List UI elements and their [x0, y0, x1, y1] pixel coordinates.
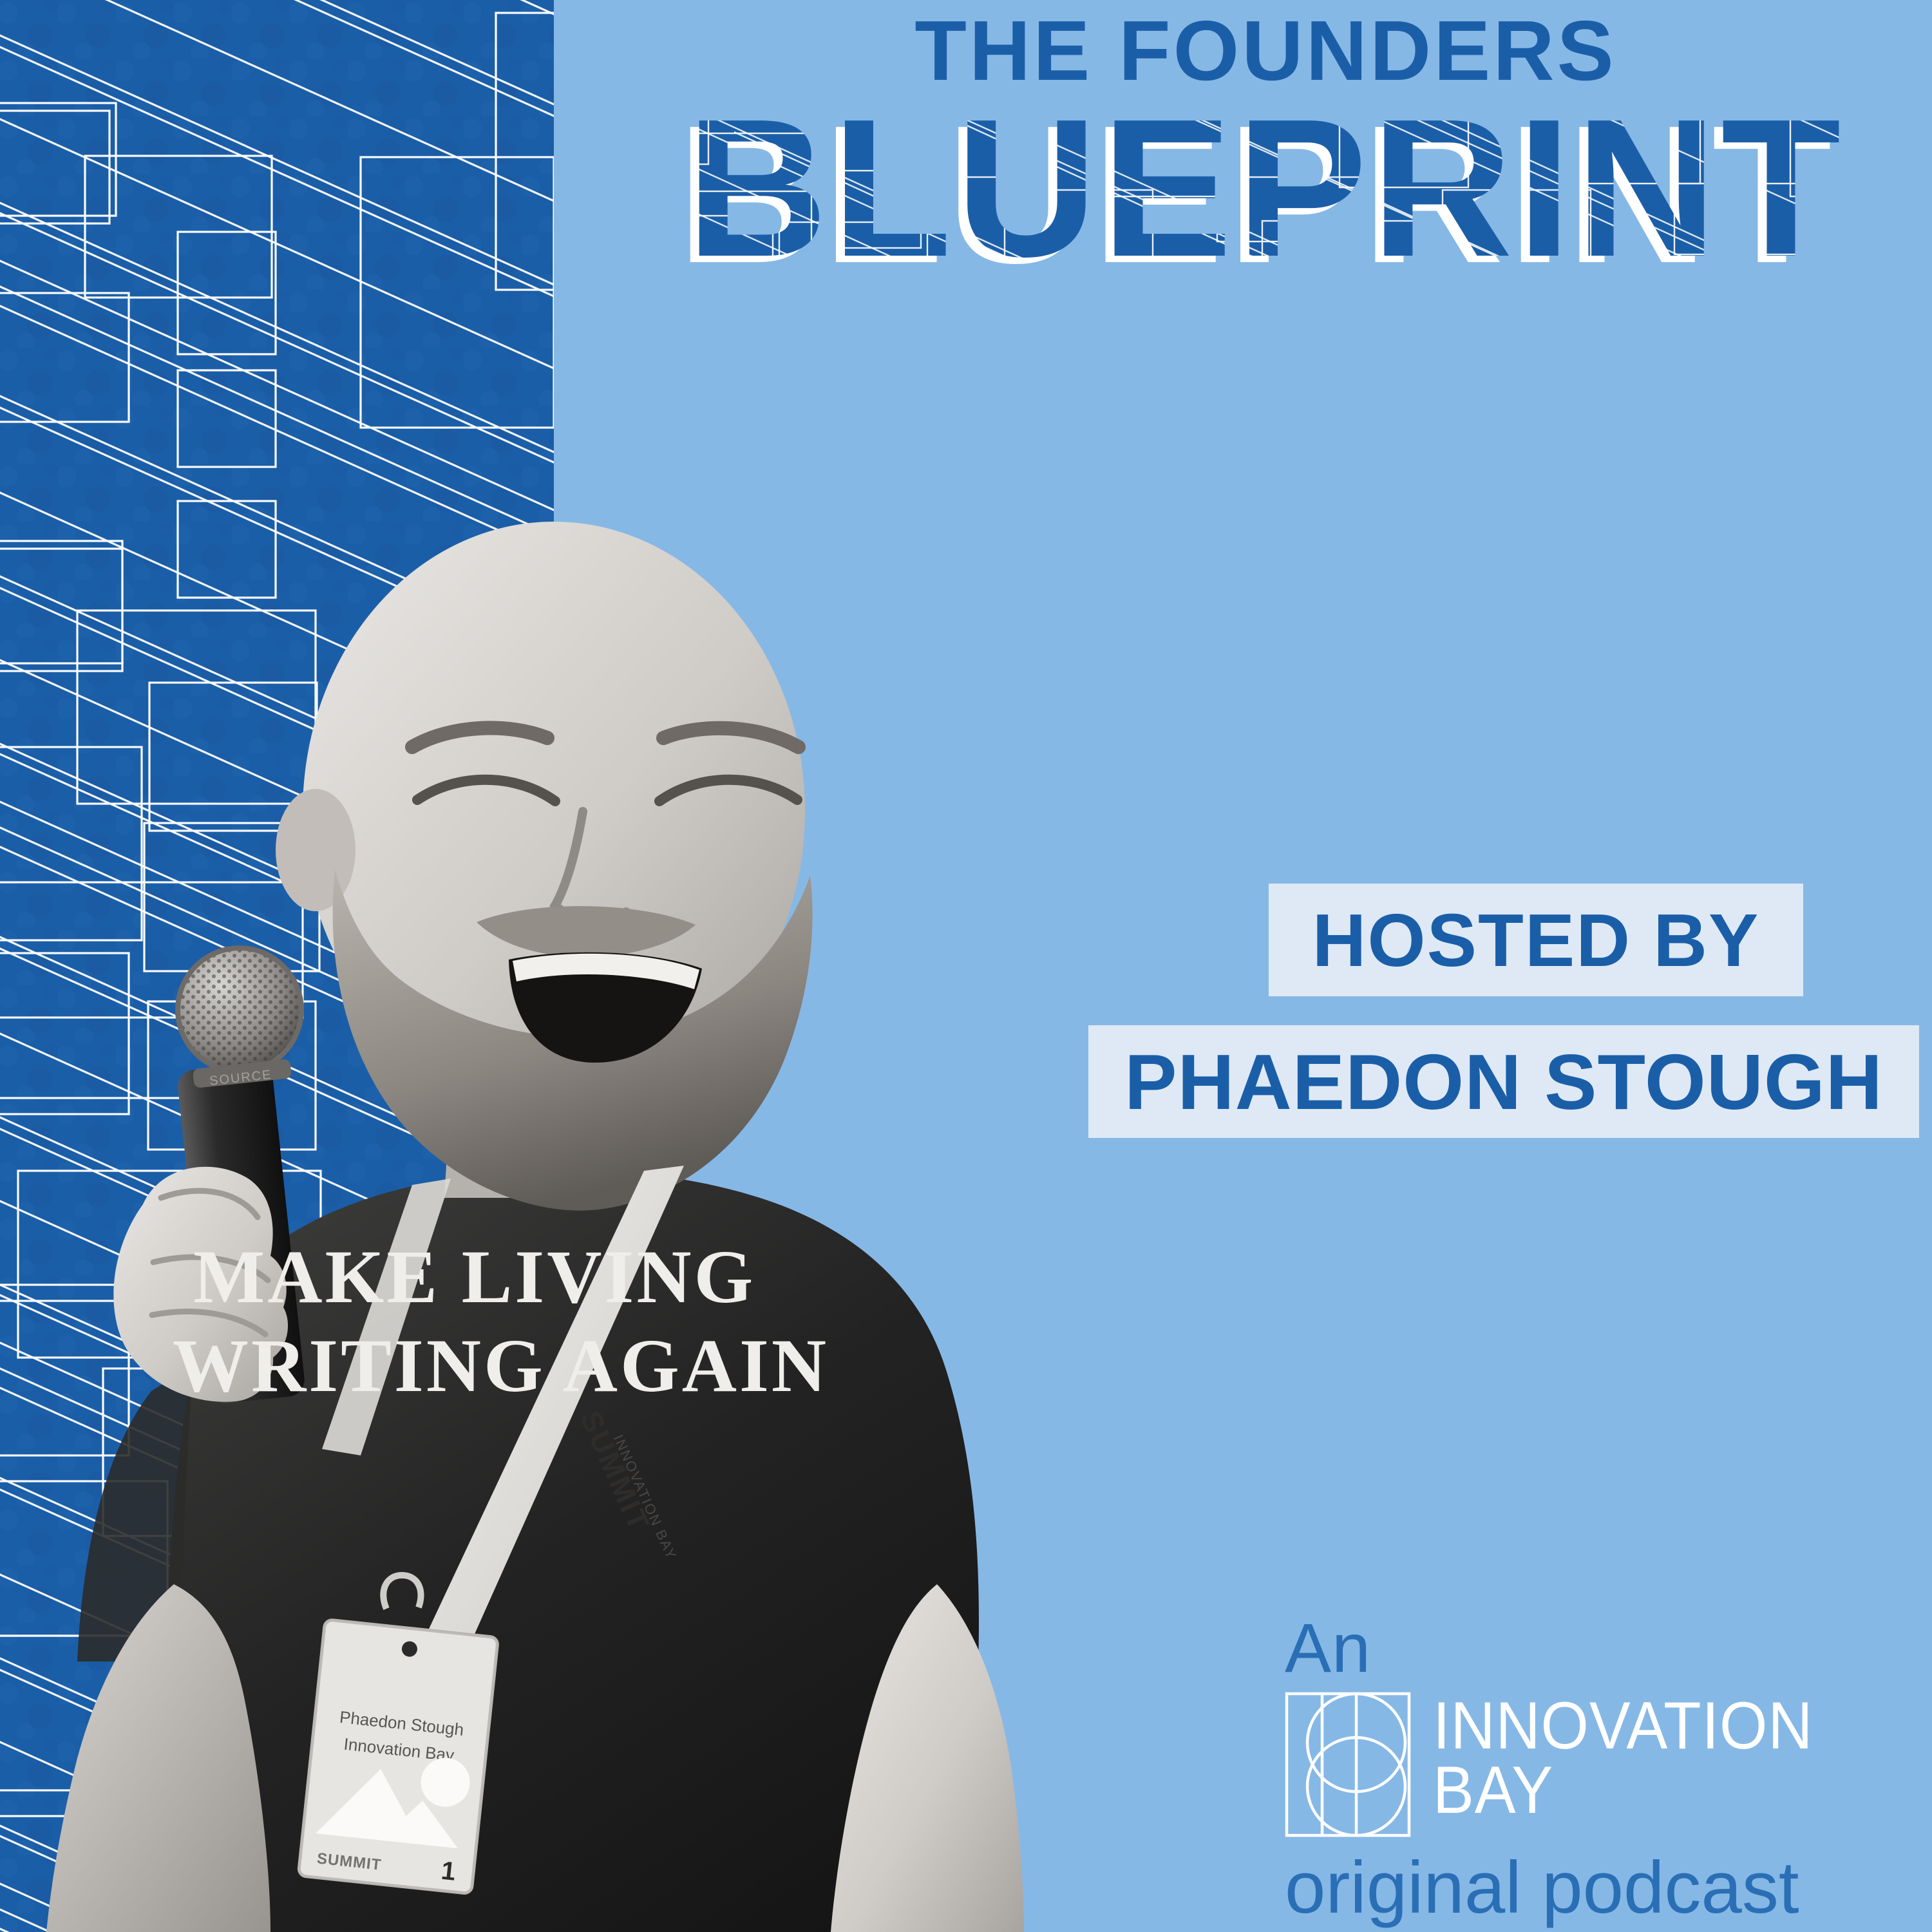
tshirt-slogan-line-2: WRITING AGAIN: [173, 1323, 829, 1408]
innovation-bay-wordmark: INNOVATION BAY: [1433, 1692, 1846, 1823]
kicker-the-founders: THE FOUNDERS: [618, 6, 1913, 96]
host-name-label: PHAEDON STOUGH: [1124, 1043, 1883, 1121]
brand-line-bay: BAY: [1433, 1759, 1813, 1823]
footer-branding: An INNOVATION BAY original podcast: [1285, 1613, 1916, 1925]
host-name-badge: PHAEDON STOUGH: [1088, 1025, 1919, 1138]
title-blueprint-wordmark: BLUEPRINT BLUEPRINT: [618, 93, 1913, 287]
innovation-bay-monogram-icon: [1285, 1692, 1411, 1837]
hosted-by-label: HOSTED BY: [1312, 903, 1760, 978]
hosted-by-badge: HOSTED BY: [1269, 884, 1803, 996]
blueprint-wordmark-fill: BLUEPRINT: [686, 93, 1844, 287]
original-podcast-tagline: original podcast: [1285, 1851, 1916, 1925]
innovation-bay-lockup: INNOVATION BAY: [1285, 1692, 1916, 1837]
host-portrait-photo: SUMMIT INNOVATION BAY SOURCE MAKE LIVING…: [0, 361, 1159, 1932]
title-lockup: THE FOUNDERS: [618, 6, 1913, 287]
an-label: An: [1285, 1613, 1916, 1683]
tshirt-slogan-line-1: MAKE LIVING: [193, 1235, 755, 1319]
brand-line-innovation: INNOVATION: [1433, 1694, 1813, 1759]
name-badge: Phaedon Stough Innovation Bay SUMMIT 1: [298, 1620, 498, 1894]
podcast-cover-art: THE FOUNDERS: [0, 0, 1932, 1932]
